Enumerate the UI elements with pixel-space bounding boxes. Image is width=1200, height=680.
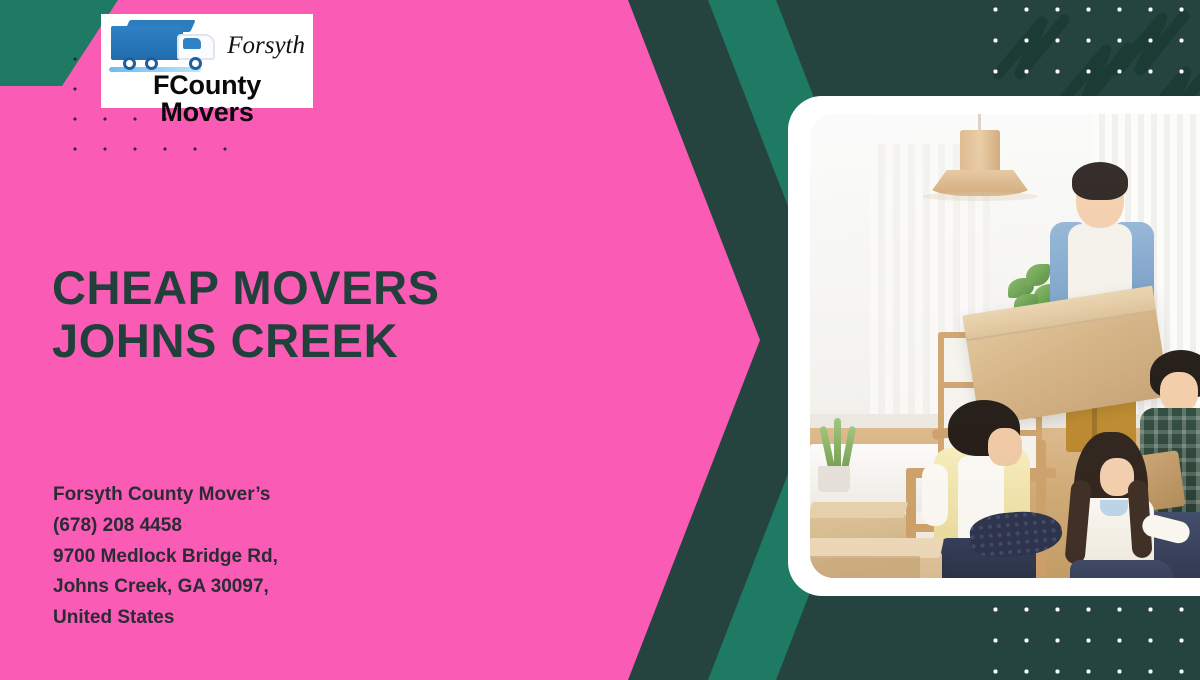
contact-country: United States [53,603,278,634]
hero-photo [810,114,1200,578]
page-title: CHEAP MOVERS JOHNS CREEK [52,262,440,367]
moving-truck-icon [109,20,221,72]
father-hair [1072,162,1128,200]
contact-company: Forsyth County Mover’s [53,480,278,511]
company-logo[interactable]: Forsyth FCounty Movers [101,14,313,108]
dot-grid-bottom-right [980,594,1200,680]
plant-pot [818,466,850,492]
lamp-cylinder [960,130,1000,172]
logo-script-word: Forsyth [227,32,305,60]
plant-snake [820,416,860,472]
contact-block: Forsyth County Mover’s (678) 208 4458 97… [53,480,278,634]
dot-grid-top-right [980,0,1200,116]
contact-address-line2: Johns Creek, GA 30097, [53,572,278,603]
photo-scene [810,114,1200,578]
contact-phone[interactable]: (678) 208 4458 [53,511,278,542]
contact-address-line1: 9700 Medlock Bridge Rd, [53,542,278,573]
lamp-ring [922,192,1038,201]
open-cardboard-box-front [810,552,942,578]
person-girl [1060,432,1190,578]
logo-main-word: FCounty Movers [109,72,305,128]
marketing-banner: Forsyth FCounty Movers CHEAP MOVERS JOHN… [0,0,1200,680]
